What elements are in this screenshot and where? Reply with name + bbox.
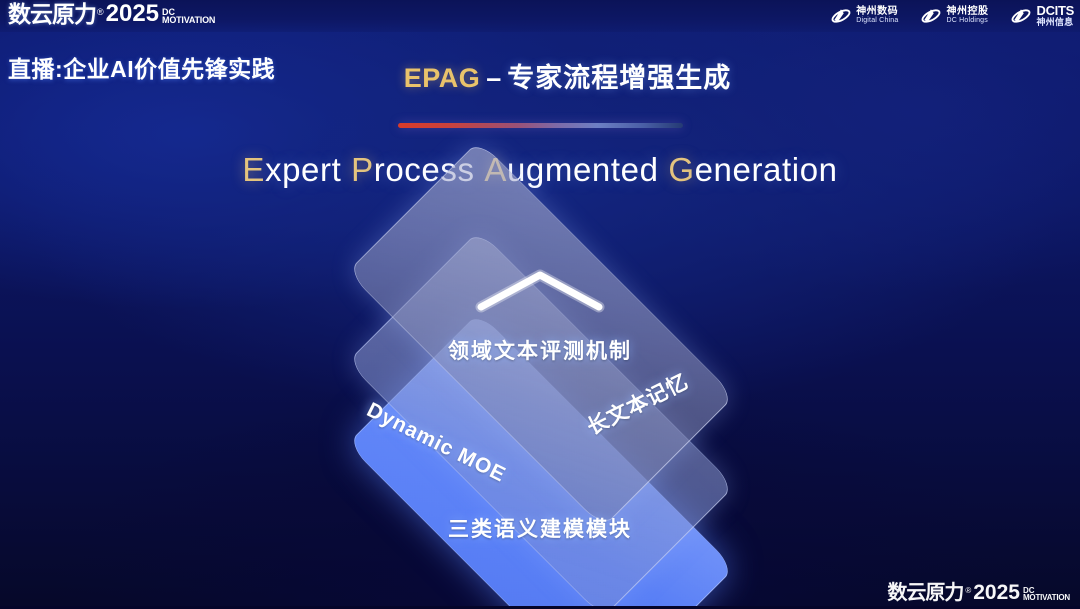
title-dash: – (486, 63, 501, 93)
presentation-slide: 数云原力 ® 2025 DC MOTIVATION 直播:企业AI价值先锋实践 … (0, 0, 1080, 609)
logo-name-en: DC Holdings (946, 17, 988, 24)
logo-name-cn: 神州控股 (946, 7, 988, 18)
brand-name-cn: 数云原力 (8, 3, 96, 26)
title-divider (398, 123, 683, 128)
logo-text: DCITS 神州信息 (1036, 4, 1074, 27)
slide-title: EPAG–专家流程增强生成 (0, 56, 1080, 95)
watermark-motivation: MOTIVATION (1023, 594, 1070, 602)
subtitle-cap-g: G (668, 151, 694, 188)
watermark-name-cn: 数云原力 (887, 583, 963, 603)
logo-dc-holdings: 神州控股 DC Holdings (920, 5, 988, 27)
subtitle-rest-augmented: ugmented (507, 151, 659, 188)
logo-name-cn: 神州数码 (856, 7, 898, 18)
watermark-dc-motivation: DC MOTIVATION (1023, 587, 1070, 602)
swirl-icon (920, 5, 942, 27)
logo-text: 神州数码 Digital China (856, 7, 898, 25)
title-cn: 专家流程增强生成 (507, 63, 731, 93)
layer-stack-diagram: 领域文本评测机制 Dynamic MOE 长文本记忆 三类语义建模模块 (290, 225, 790, 565)
logo-name-cn: DCITS (1036, 4, 1074, 18)
logo-name-en: 神州信息 (1036, 18, 1074, 27)
subtitle-rest-generation: eneration (695, 151, 838, 188)
brand-dc-motivation: DC MOTIVATION (162, 8, 215, 25)
logo-name-en: Digital China (856, 17, 898, 24)
subtitle-cap-e: E (242, 151, 265, 188)
subtitle-rest-expert: xpert (265, 151, 341, 188)
footer-watermark: 数云原力 ® 2025 DC MOTIVATION (887, 582, 1070, 603)
brand-logo: 数云原力 ® 2025 DC MOTIVATION (8, 2, 215, 26)
swirl-icon (1010, 5, 1032, 27)
registered-mark: ® (97, 8, 104, 17)
brand-motivation: MOTIVATION (162, 16, 215, 25)
logo-dcits: DCITS 神州信息 (1010, 4, 1074, 27)
partner-logos: 神州数码 Digital China 神州控股 DC Holdings (830, 4, 1074, 27)
subtitle-expansion: Expert Process Augmented Generation (0, 151, 1080, 189)
logo-digital-china: 神州数码 Digital China (830, 5, 898, 27)
subtitle-cap-p: P (351, 151, 374, 188)
watermark-registered: ® (965, 587, 971, 595)
title-acronym: EPAG (404, 63, 481, 93)
logo-text: 神州控股 DC Holdings (946, 7, 988, 25)
brand-year: 2025 (106, 2, 159, 26)
swirl-icon (830, 5, 852, 27)
watermark-year: 2025 (973, 582, 1020, 603)
